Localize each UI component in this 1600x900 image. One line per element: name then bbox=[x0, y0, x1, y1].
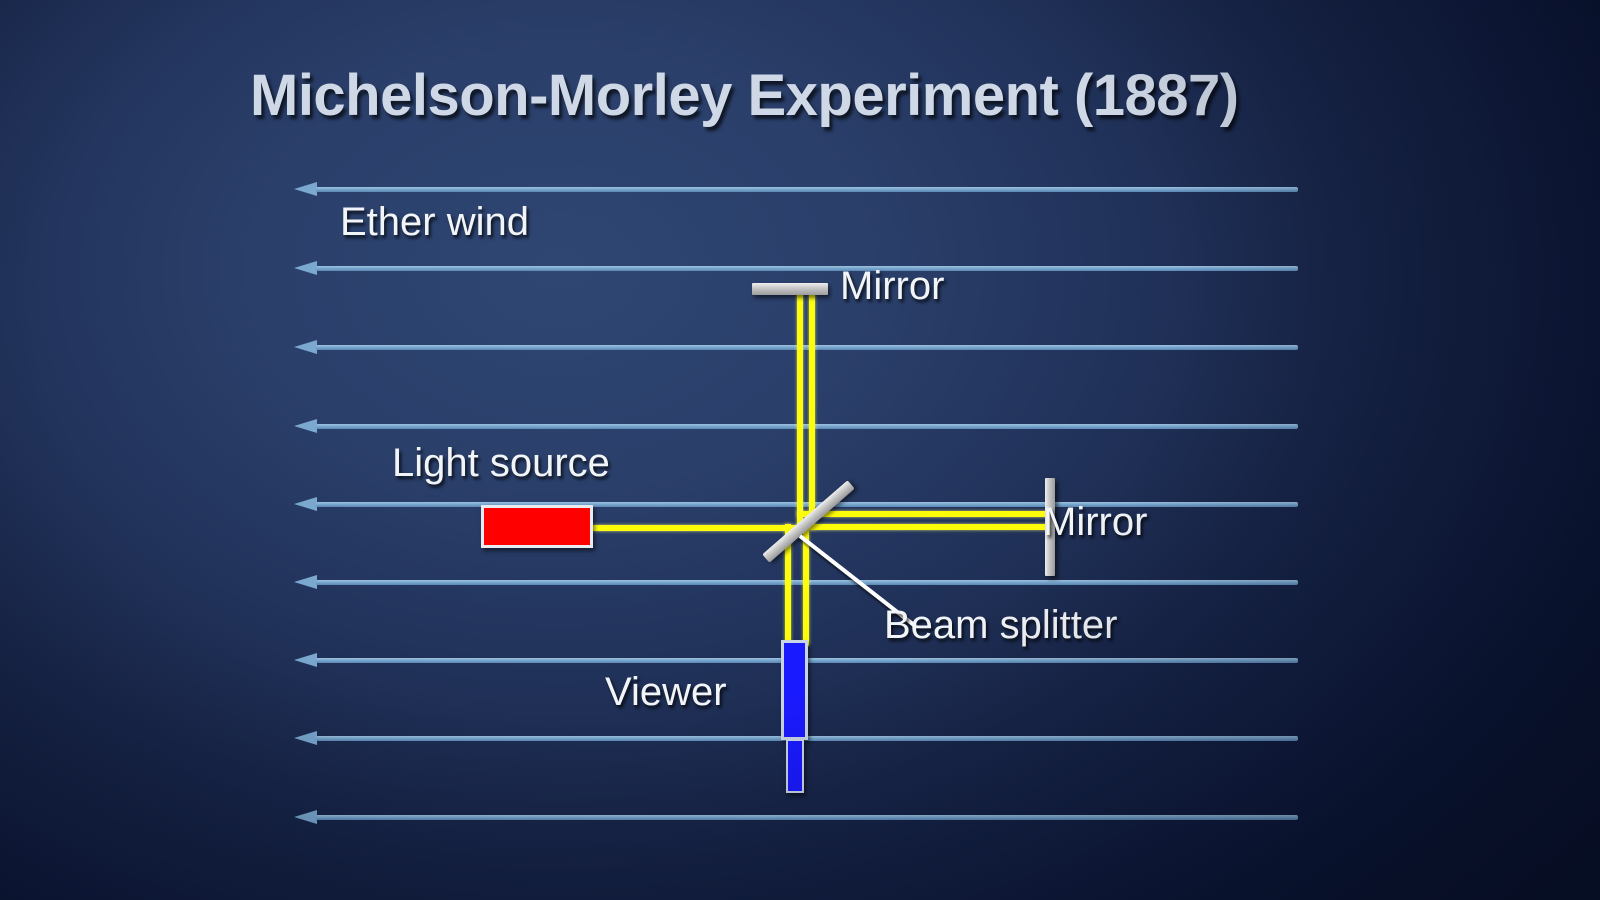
arrow-head-icon bbox=[294, 731, 317, 745]
label-mirror-top: Mirror bbox=[840, 264, 944, 309]
arrow-head-icon bbox=[294, 340, 317, 354]
arrow-shaft bbox=[316, 266, 1298, 271]
arrow-shaft bbox=[316, 502, 1298, 507]
arrow-head-icon bbox=[294, 497, 317, 511]
arrow-head-icon bbox=[294, 810, 317, 824]
beam-splitter-to-top-mirror-right bbox=[809, 292, 815, 530]
beam-splitter-to-right-mirror-lower bbox=[797, 524, 1050, 530]
light-source[interactable] bbox=[481, 505, 593, 548]
mirror-top[interactable] bbox=[752, 283, 828, 295]
arrow-shaft bbox=[316, 345, 1298, 350]
beam-splitter-to-right-mirror-upper bbox=[797, 511, 1050, 517]
label-beam-splitter: Beam splitter bbox=[884, 603, 1117, 648]
label-mirror-right: Mirror bbox=[1043, 500, 1147, 545]
ether-wind-arrow bbox=[294, 575, 1300, 589]
arrow-head-icon bbox=[294, 182, 317, 196]
arrow-head-icon bbox=[294, 261, 317, 275]
ether-wind-arrow bbox=[294, 261, 1300, 275]
arrow-shaft bbox=[316, 815, 1298, 820]
label-ether-wind: Ether wind bbox=[340, 200, 529, 245]
ether-wind-arrow bbox=[294, 810, 1300, 824]
beam-source-to-splitter bbox=[592, 525, 808, 531]
slide-canvas: Michelson-Morley Experiment (1887) Ether… bbox=[0, 0, 1600, 900]
arrow-head-icon bbox=[294, 419, 317, 433]
label-viewer: Viewer bbox=[605, 670, 727, 715]
label-light-source: Light source bbox=[392, 441, 610, 486]
beam-splitter-to-top-mirror-left bbox=[797, 292, 803, 530]
viewer-body[interactable] bbox=[781, 640, 808, 740]
ether-wind-arrow bbox=[294, 182, 1300, 196]
arrow-head-icon bbox=[294, 653, 317, 667]
arrow-shaft bbox=[316, 187, 1298, 192]
arrow-head-icon bbox=[294, 575, 317, 589]
viewer-stem[interactable] bbox=[786, 739, 804, 793]
page-title: Michelson-Morley Experiment (1887) bbox=[250, 62, 1239, 129]
arrow-shaft bbox=[316, 424, 1298, 429]
